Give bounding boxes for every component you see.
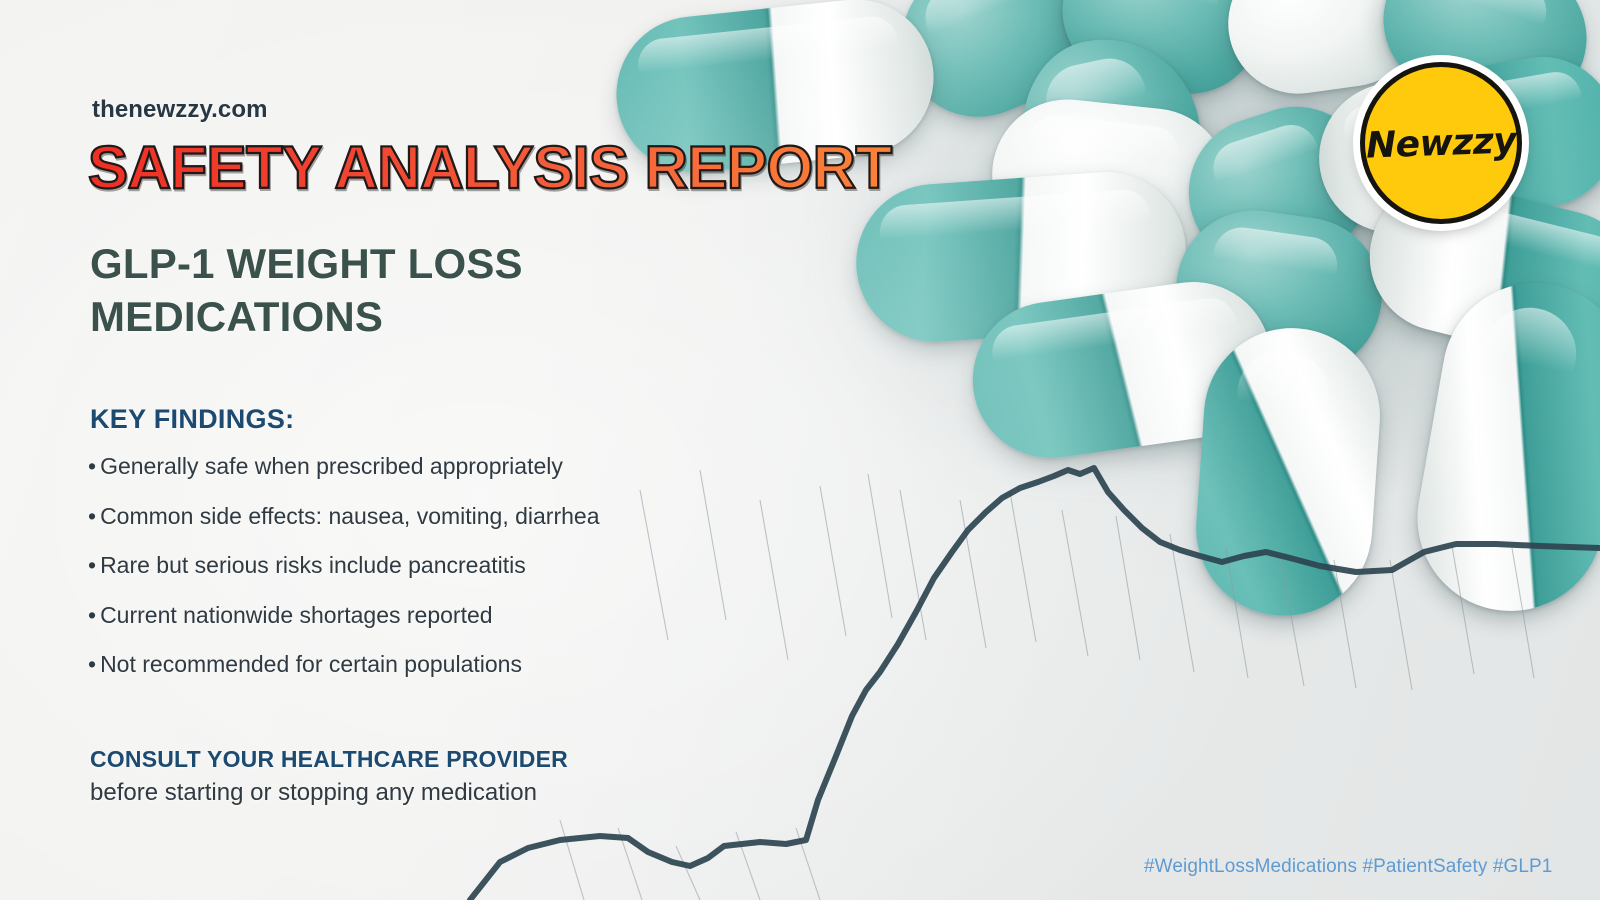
bullet-dot-icon: • (88, 651, 96, 677)
newzzy-logo-badge[interactable]: Newzzy (1360, 62, 1522, 224)
cta-headline: CONSULT YOUR HEALTHCARE PROVIDER (90, 742, 790, 777)
key-findings-heading: KEY FINDINGS: (90, 404, 294, 435)
list-item-label: Generally safe when prescribed appropria… (100, 453, 563, 479)
list-item: •Generally safe when prescribed appropri… (88, 455, 788, 478)
list-item: •Current nationwide shortages reported (88, 604, 788, 627)
list-item-label: Rare but serious risks include pancreati… (100, 552, 526, 578)
bullet-dot-icon: • (88, 453, 96, 479)
key-findings-list: •Generally safe when prescribed appropri… (88, 455, 788, 703)
call-to-action: CONSULT YOUR HEALTHCARE PROVIDER before … (90, 742, 790, 809)
list-item-label: Not recommended for certain populations (100, 651, 522, 677)
list-item: •Rare but serious risks include pancreat… (88, 554, 788, 577)
hashtags: #WeightLossMedications #PatientSafety #G… (1144, 856, 1552, 878)
page-subtitle: GLP-1 WEIGHT LOSS MEDICATIONS (90, 238, 710, 343)
bullet-dot-icon: • (88, 602, 96, 628)
list-item: •Common side effects: nausea, vomiting, … (88, 505, 788, 528)
list-item: •Not recommended for certain populations (88, 653, 788, 676)
cta-subtext: before starting or stopping any medicati… (90, 777, 790, 809)
pill-capsule (1190, 322, 1386, 622)
list-item-label: Common side effects: nausea, vomiting, d… (100, 503, 599, 529)
bullet-dot-icon: • (88, 503, 96, 529)
logo-text: Newzzy (1365, 120, 1517, 166)
bullet-dot-icon: • (88, 552, 96, 578)
content-column: thenewzzy.com SAFETY ANALYSIS REPORT GLP… (88, 0, 848, 900)
infographic-canvas: thenewzzy.com SAFETY ANALYSIS REPORT GLP… (0, 0, 1600, 900)
list-item-label: Current nationwide shortages reported (100, 602, 493, 628)
site-url: thenewzzy.com (92, 96, 268, 124)
page-title: SAFETY ANALYSIS REPORT (88, 138, 892, 198)
